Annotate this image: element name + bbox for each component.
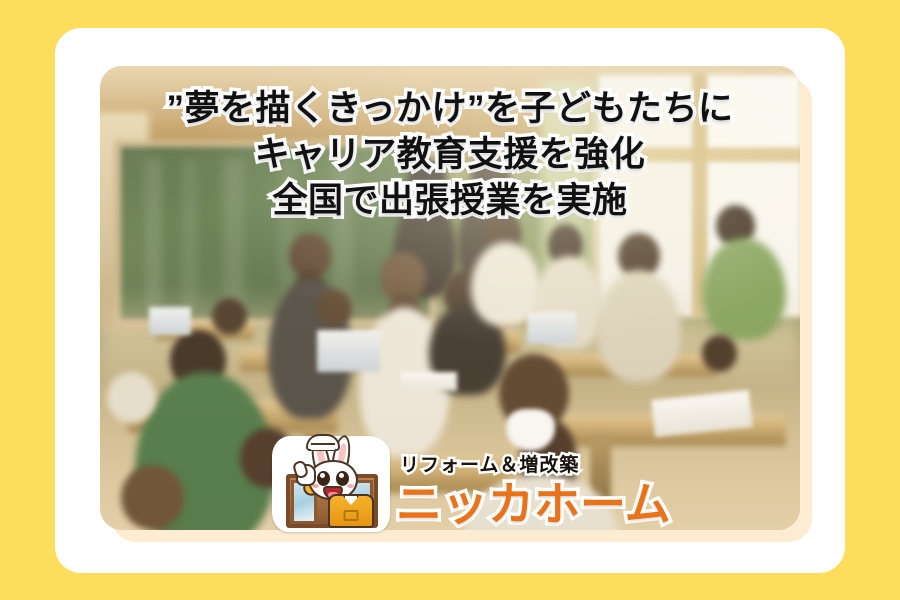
rabbit-mascot-icon xyxy=(272,436,390,532)
logo-tagline: リフォーム＆増改築 xyxy=(400,454,671,478)
uniform-pocket xyxy=(344,510,359,521)
bunny-cheek-right xyxy=(347,484,354,488)
logo-brand-name: ニッカホーム xyxy=(396,478,671,530)
bunny-uniform xyxy=(328,494,374,528)
bunny-figure xyxy=(296,438,366,500)
company-logo[interactable]: リフォーム＆増改築 ニッカホーム xyxy=(272,436,652,532)
chef-hat-icon xyxy=(306,434,340,451)
uniform-collar xyxy=(343,496,359,505)
banner-page: { "theme": { "background_color": "#FDDD5… xyxy=(0,0,900,600)
bunny-eye-left xyxy=(317,471,330,486)
logo-wordmark: リフォーム＆増改築 ニッカホーム xyxy=(396,454,671,532)
thumbs-up-icon xyxy=(296,464,316,486)
